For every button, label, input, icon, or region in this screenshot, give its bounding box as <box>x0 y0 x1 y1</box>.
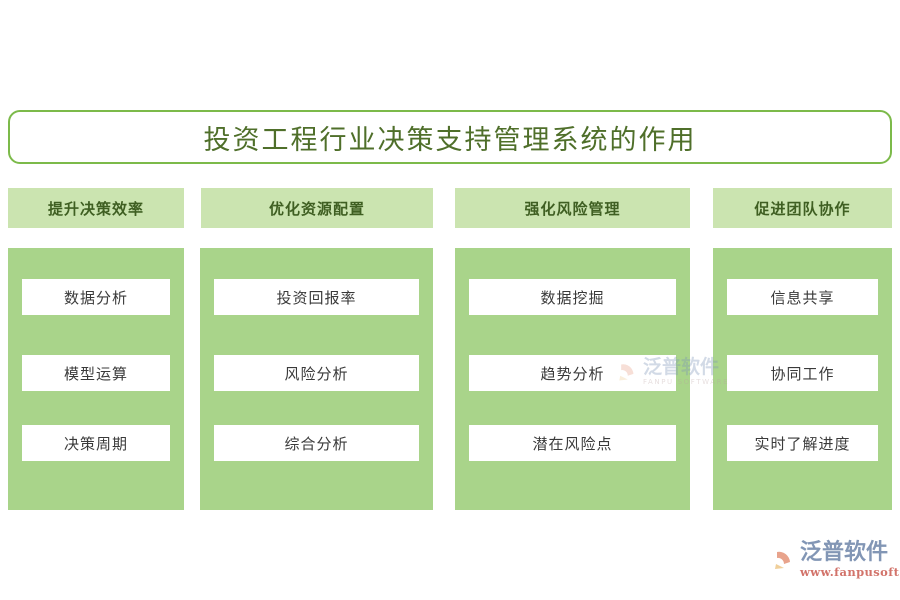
brand-url: www.fanpusoft.com <box>800 567 900 579</box>
brand-company-cn: 泛普软件 <box>800 542 900 564</box>
column-2-item-3-label: 综合分析 <box>284 433 348 454</box>
brand-logo: 泛普软件 www.fanpusoft.com <box>762 536 894 584</box>
column-4-header-label: 促进团队协作 <box>754 198 850 219</box>
column-1-header-label: 提升决策效率 <box>48 198 144 219</box>
column-4-item-3-label: 实时了解进度 <box>754 433 850 454</box>
column-1-item-1[interactable]: 数据分析 <box>22 279 170 315</box>
column-1-item-1-label: 数据分析 <box>64 287 128 308</box>
column-3: 强化风险管理 数据挖掘 趋势分析 潜在风险点 <box>455 188 690 228</box>
column-2-item-2-label: 风险分析 <box>284 363 348 384</box>
column-3-header: 强化风险管理 <box>455 188 690 228</box>
column-4-item-3[interactable]: 实时了解进度 <box>727 425 878 461</box>
column-4-item-1-label: 信息共享 <box>770 287 834 308</box>
slide-canvas: 投资工程行业决策支持管理系统的作用 提升决策效率 数据分析 模型运算 决策周期 <box>0 0 900 600</box>
column-1-item-3[interactable]: 决策周期 <box>22 425 170 461</box>
column-2-item-1-label: 投资回报率 <box>276 287 356 308</box>
column-3-item-1[interactable]: 数据挖掘 <box>469 279 676 315</box>
column-4-item-1[interactable]: 信息共享 <box>727 279 878 315</box>
column-1-item-3-label: 决策周期 <box>64 433 128 454</box>
columns-container: 提升决策效率 数据分析 模型运算 决策周期 优化资源配置 投资 <box>0 188 900 510</box>
title-banner: 投资工程行业决策支持管理系统的作用 <box>8 110 892 164</box>
column-1-item-2[interactable]: 模型运算 <box>22 355 170 391</box>
column-2-body: 投资回报率 风险分析 综合分析 <box>200 248 433 510</box>
column-4: 促进团队协作 信息共享 协同工作 实时了解进度 <box>713 188 892 228</box>
column-3-item-3-label: 潜在风险点 <box>532 433 612 454</box>
fanpu-logo-icon <box>762 542 798 578</box>
column-2-header: 优化资源配置 <box>201 188 433 228</box>
column-3-item-3[interactable]: 潜在风险点 <box>469 425 676 461</box>
column-3-item-1-label: 数据挖掘 <box>540 287 604 308</box>
column-4-body: 信息共享 协同工作 实时了解进度 <box>713 248 892 510</box>
column-3-header-label: 强化风险管理 <box>524 198 620 219</box>
column-4-item-2[interactable]: 协同工作 <box>727 355 878 391</box>
column-3-body: 数据挖掘 趋势分析 潜在风险点 <box>455 248 690 510</box>
column-1-item-2-label: 模型运算 <box>64 363 128 384</box>
column-2-item-1[interactable]: 投资回报率 <box>214 279 419 315</box>
column-1-body: 数据分析 模型运算 决策周期 <box>8 248 184 510</box>
column-4-item-2-label: 协同工作 <box>770 363 834 384</box>
column-1: 提升决策效率 数据分析 模型运算 决策周期 <box>8 188 184 228</box>
column-3-item-2[interactable]: 趋势分析 <box>469 355 676 391</box>
column-1-header: 提升决策效率 <box>8 188 184 228</box>
column-2: 优化资源配置 投资回报率 风险分析 综合分析 <box>201 188 433 228</box>
column-4-header: 促进团队协作 <box>713 188 892 228</box>
column-3-item-2-label: 趋势分析 <box>540 363 604 384</box>
page-title: 投资工程行业决策支持管理系统的作用 <box>204 118 697 157</box>
column-2-item-2[interactable]: 风险分析 <box>214 355 419 391</box>
column-2-item-3[interactable]: 综合分析 <box>214 425 419 461</box>
brand-text-block: 泛普软件 www.fanpusoft.com <box>800 542 900 579</box>
column-2-header-label: 优化资源配置 <box>269 198 365 219</box>
